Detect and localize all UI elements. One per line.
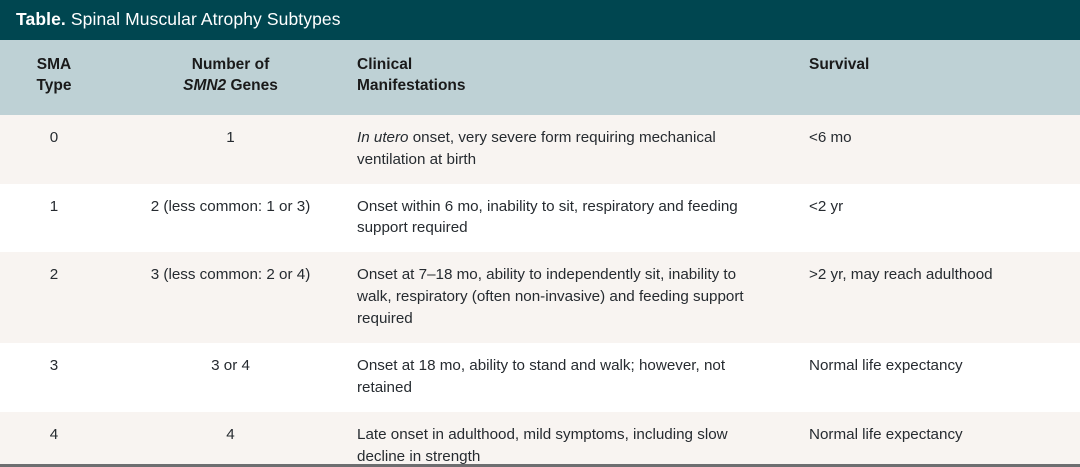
clinical-text: Late onset in adulthood, mild symptoms, … — [357, 426, 728, 465]
cell-smn2-genes: 1 — [108, 115, 353, 184]
table-caption: Table.Spinal Muscular Atrophy Subtypes — [16, 11, 341, 29]
cell-sma-type: 2 — [0, 252, 108, 343]
cell-survival: <6 mo — [805, 115, 1080, 184]
cell-smn2-genes: 3 or 4 — [108, 343, 353, 412]
sma-subtypes-table: SMA Type Number of SMN2 Genes Clinical M… — [0, 40, 1080, 467]
column-header-clinical-line1: Clinical — [357, 56, 412, 73]
cell-clinical-manifestations: Late onset in adulthood, mild symptoms, … — [353, 412, 805, 467]
cell-sma-type: 0 — [0, 115, 108, 184]
cell-clinical-manifestations: Onset at 7–18 mo, ability to independent… — [353, 252, 805, 343]
table-row: 0 1 In utero onset, very severe form req… — [0, 115, 1080, 184]
table-header-row: SMA Type Number of SMN2 Genes Clinical M… — [0, 40, 1080, 115]
clinical-italic-phrase: In utero — [357, 129, 409, 146]
column-header-sma-type-line1: SMA — [37, 56, 71, 73]
table-row: 3 3 or 4 Onset at 18 mo, ability to stan… — [0, 343, 1080, 412]
table-row: 1 2 (less common: 1 or 3) Onset within 6… — [0, 184, 1080, 253]
cell-survival: Normal life expectancy — [805, 343, 1080, 412]
column-header-smn2-genes-line1: Number of — [192, 56, 270, 73]
cell-survival: >2 yr, may reach adulthood — [805, 252, 1080, 343]
table-caption-text: Spinal Muscular Atrophy Subtypes — [71, 9, 341, 29]
cell-smn2-genes: 3 (less common: 2 or 4) — [108, 252, 353, 343]
column-header-sma-type: SMA Type — [0, 40, 108, 115]
cell-clinical-manifestations: In utero onset, very severe form requiri… — [353, 115, 805, 184]
table-row: 4 4 Late onset in adulthood, mild sympto… — [0, 412, 1080, 467]
table-title-bar: Table.Spinal Muscular Atrophy Subtypes — [0, 0, 1080, 40]
cell-smn2-genes: 2 (less common: 1 or 3) — [108, 184, 353, 253]
table-caption-label: Table. — [16, 9, 66, 29]
clinical-text: Onset at 18 mo, ability to stand and wal… — [357, 357, 725, 396]
column-header-smn2-genes-line2-rest: Genes — [226, 77, 278, 94]
clinical-text: Onset at 7–18 mo, ability to independent… — [357, 266, 744, 327]
cell-survival: <2 yr — [805, 184, 1080, 253]
cell-sma-type: 3 — [0, 343, 108, 412]
column-header-smn2-genes: Number of SMN2 Genes — [108, 40, 353, 115]
column-header-clinical-line2: Manifestations — [357, 77, 466, 94]
column-header-survival: Survival — [805, 40, 1080, 115]
table-body: 0 1 In utero onset, very severe form req… — [0, 115, 1080, 467]
cell-clinical-manifestations: Onset within 6 mo, inability to sit, res… — [353, 184, 805, 253]
table-row: 2 3 (less common: 2 or 4) Onset at 7–18 … — [0, 252, 1080, 343]
cell-clinical-manifestations: Onset at 18 mo, ability to stand and wal… — [353, 343, 805, 412]
column-header-sma-type-line2: Type — [36, 77, 71, 94]
column-header-smn2-gene-name: SMN2 — [183, 77, 226, 94]
clinical-text: onset, very severe form requiring mechan… — [357, 129, 716, 168]
cell-smn2-genes: 4 — [108, 412, 353, 467]
column-header-clinical-manifestations: Clinical Manifestations — [353, 40, 805, 115]
cell-survival: Normal life expectancy — [805, 412, 1080, 467]
clinical-text: Onset within 6 mo, inability to sit, res… — [357, 198, 738, 237]
cell-sma-type: 4 — [0, 412, 108, 467]
table-header: SMA Type Number of SMN2 Genes Clinical M… — [0, 40, 1080, 115]
cell-sma-type: 1 — [0, 184, 108, 253]
column-header-survival-line1: Survival — [809, 56, 869, 73]
table-figure: Table.Spinal Muscular Atrophy Subtypes S… — [0, 0, 1080, 467]
